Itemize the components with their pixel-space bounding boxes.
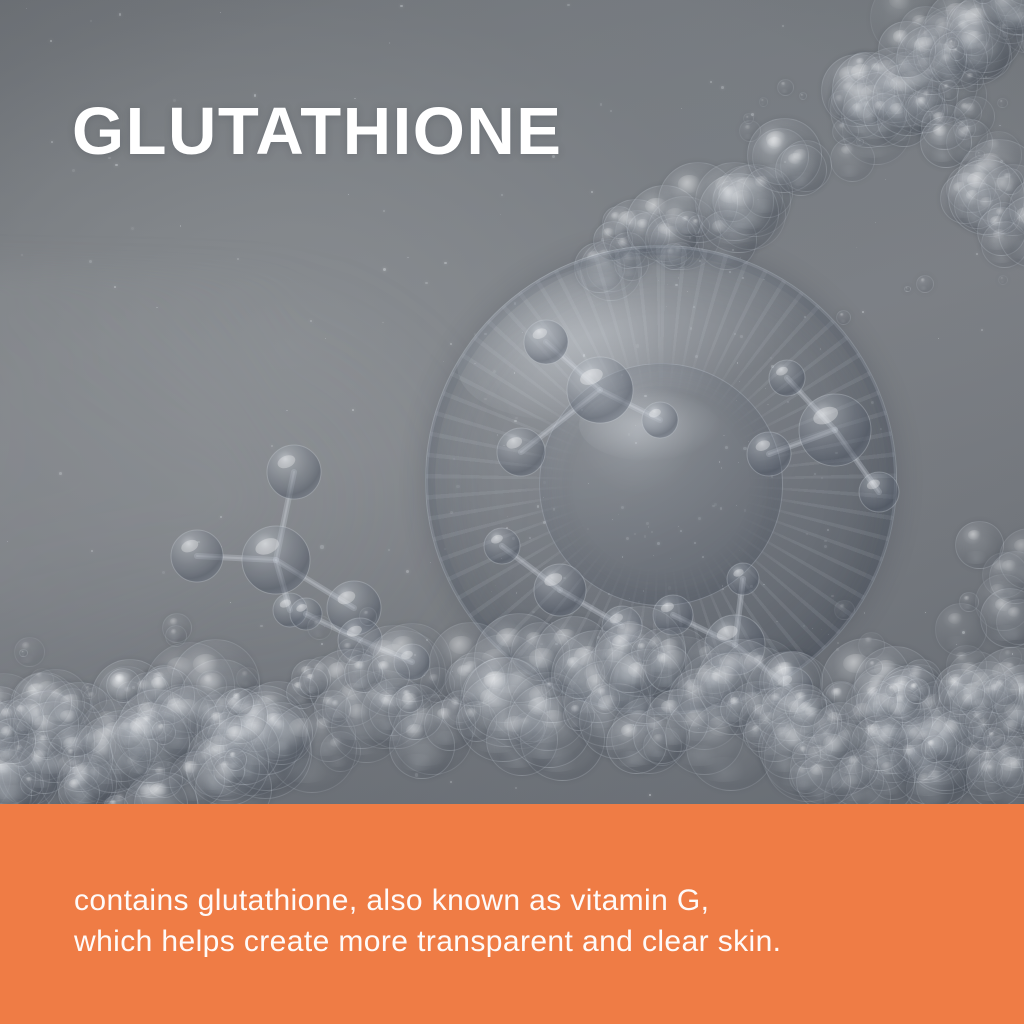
caption-text: contains glutathione, also known as vita… <box>0 880 821 963</box>
caption-band: contains glutathione, also known as vita… <box>0 804 1024 1024</box>
page-title: GLUTATHIONE <box>72 98 562 165</box>
poster-canvas: GLUTATHIONE contains glutathione, also k… <box>0 0 1024 1024</box>
